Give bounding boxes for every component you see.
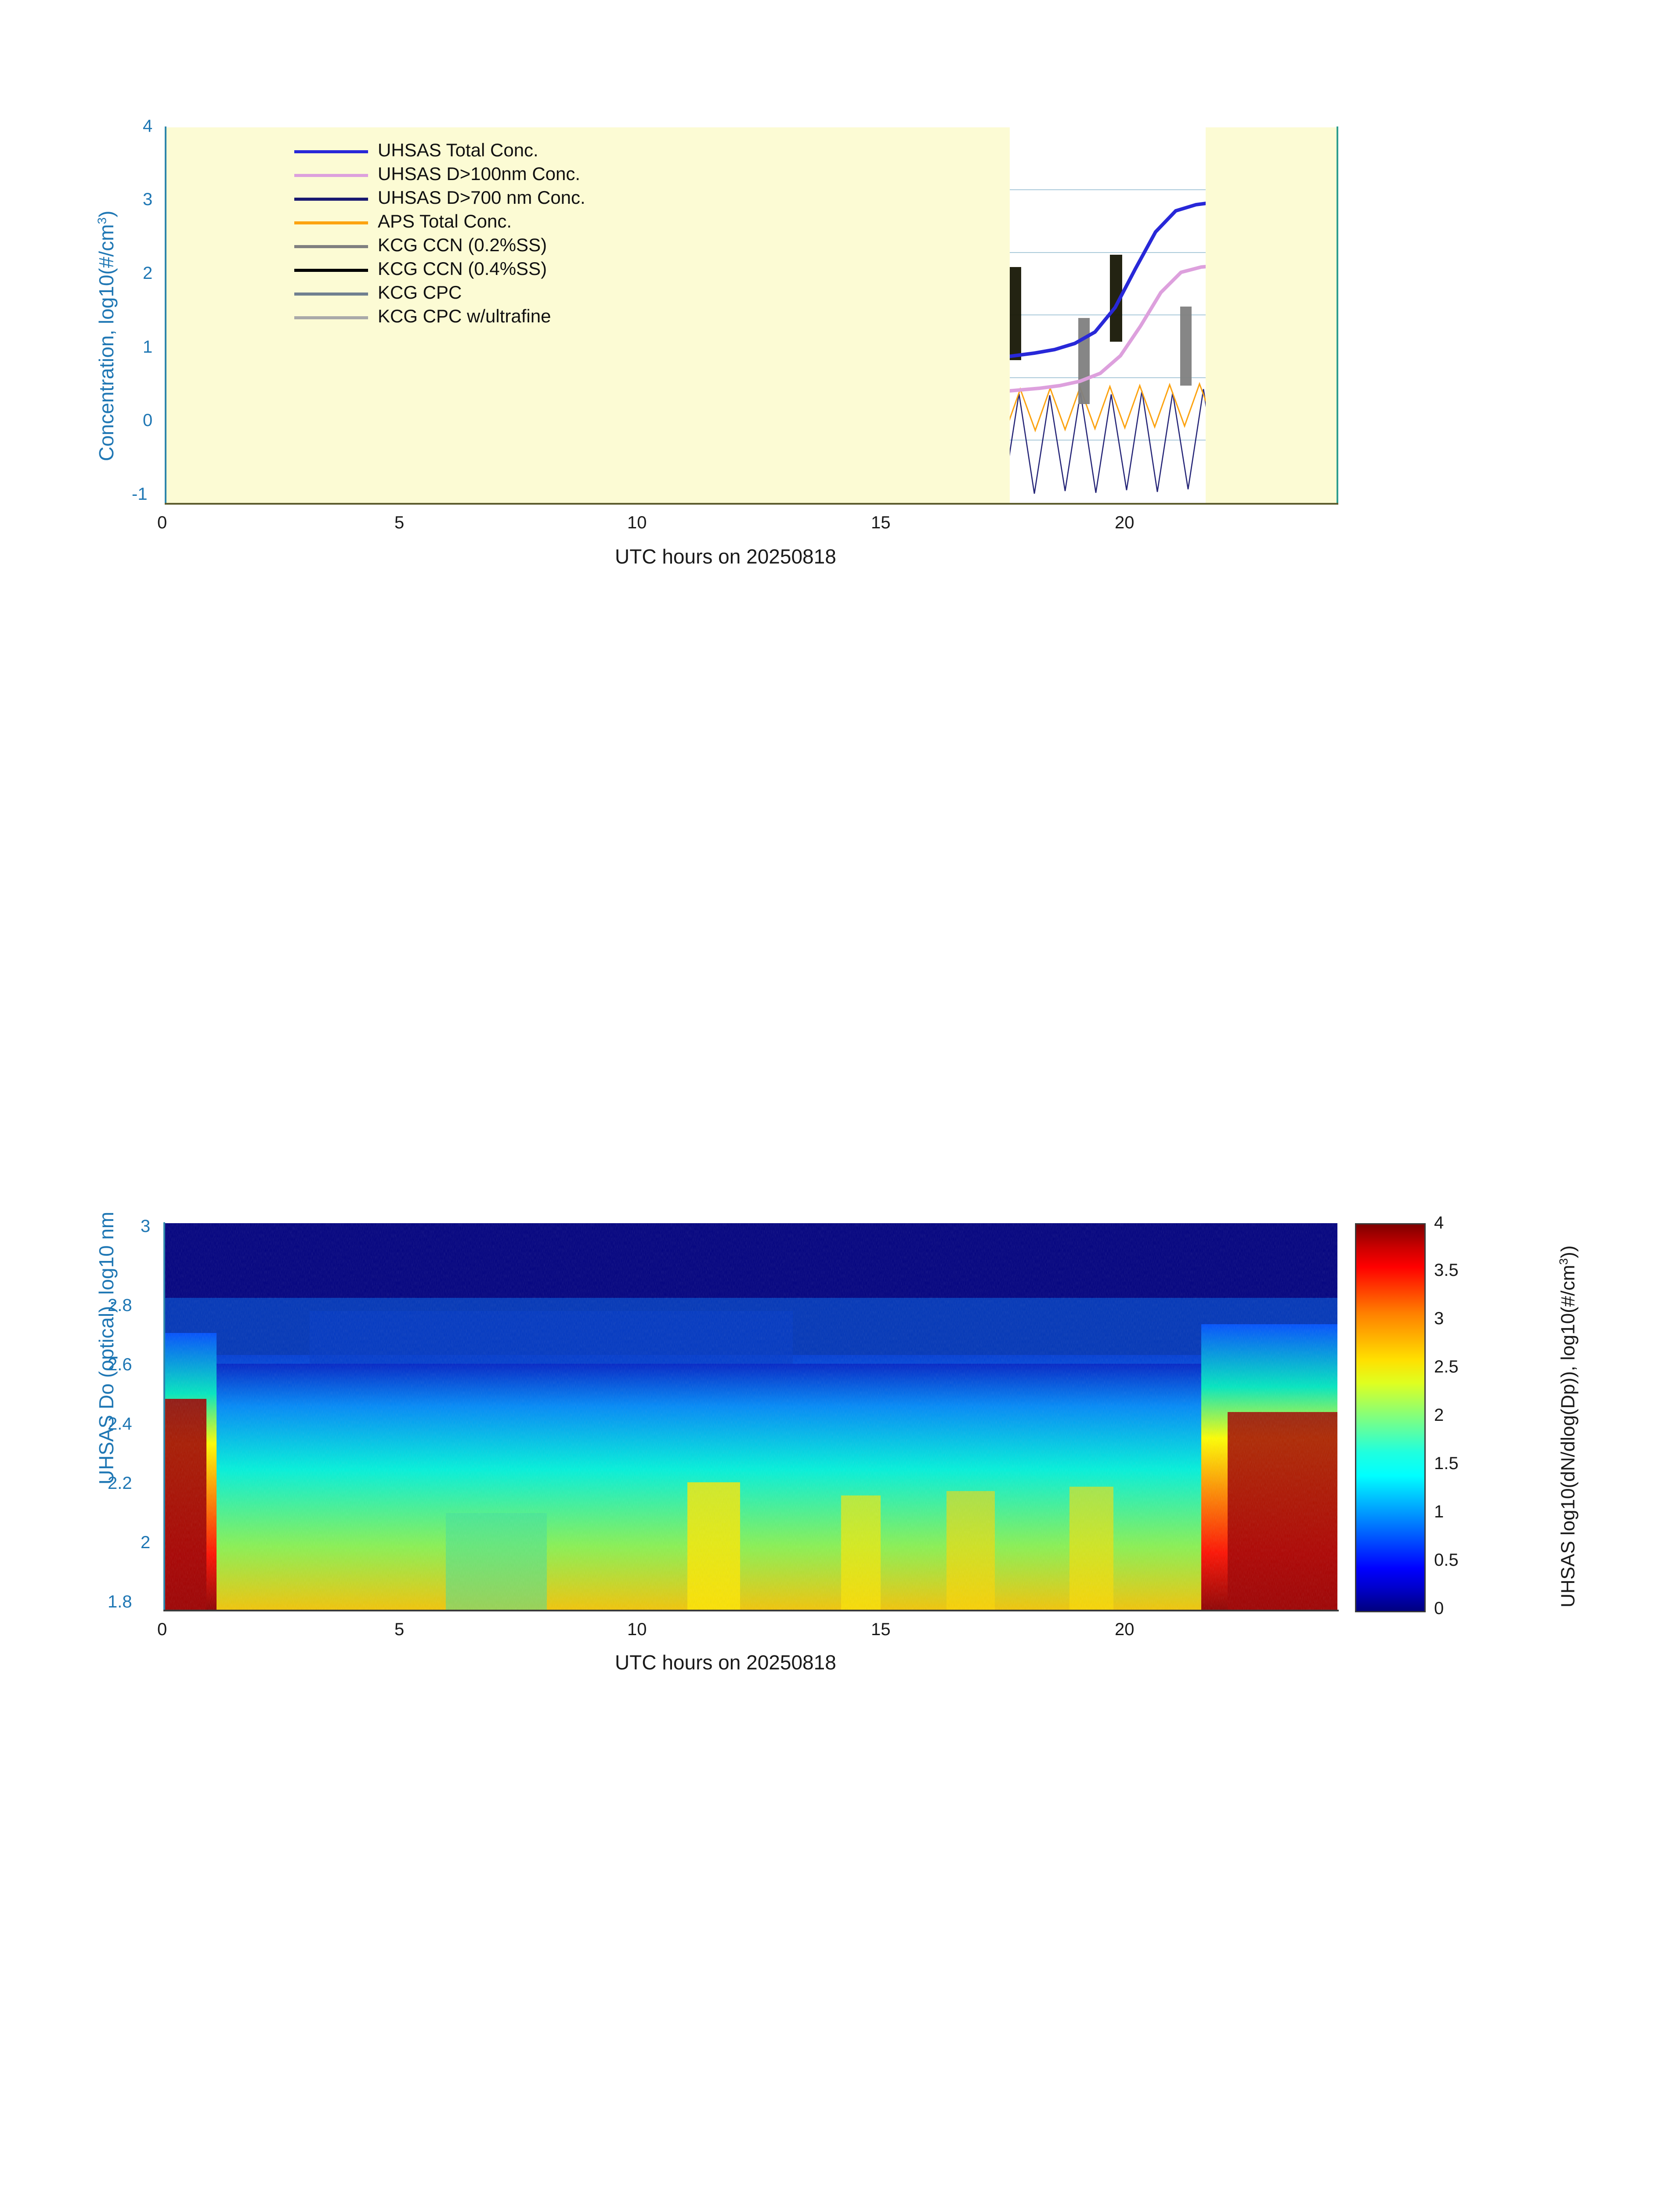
panel-aod-angstrom: Aerosol Optical Depth 0 0.2 0.4 0.6 0.8 … — [0, 2064, 1680, 2196]
panel1-ytick-4: 4 — [143, 116, 152, 136]
panel1-y-axis-label-sup: 3 — [95, 217, 109, 224]
legend-swatch-cpc — [294, 293, 368, 296]
legend-label-uhsas-total: UHSAS Total Conc. — [378, 140, 538, 161]
panel1-ytick-2: 2 — [143, 264, 152, 283]
panel1-night-shade-left — [165, 127, 1010, 503]
panel1-ytick-1: 1 — [143, 337, 152, 357]
panel1-y-axis-label-tail: ) — [95, 211, 118, 217]
panel1-ytick--1: -1 — [132, 484, 148, 504]
panel1-xtick-10: 10 — [627, 513, 647, 533]
legend-label-cpc: KCG CPC — [378, 282, 462, 303]
panel1-ytick-0: 0 — [143, 411, 152, 430]
panel1-x-axis-label: UTC hours on 20250818 — [615, 545, 836, 568]
panel1-xtick-5: 5 — [394, 513, 404, 533]
panel1-xtick-0: 0 — [157, 513, 167, 533]
legend-label-ccn-04: KCG CCN (0.4%SS) — [378, 258, 547, 279]
panel1-xtick-20: 20 — [1115, 513, 1134, 533]
legend-label-uhsas-700: UHSAS D>700 nm Conc. — [378, 187, 585, 208]
panel-aps-heatmap: APS Da (aerodynamic), log10 μm -0.2 0 0.… — [0, 1116, 1680, 1599]
legend-label-uhsas-100: UHSAS D>100nm Conc. — [378, 163, 580, 184]
panel1-left-spine — [165, 126, 166, 504]
panel-uhsas-heatmap: UHSAS Do (optical), log10 nm 1.8 2 2.2 2… — [0, 602, 1680, 1085]
panel1-bottom-spine — [165, 503, 1338, 505]
panel-mean-distribution: dN/dlogDp, log10(#/cm3) -2 -1 0 1 2 3 2 … — [0, 1590, 1680, 2064]
legend-swatch-ccn-02 — [294, 245, 368, 248]
panel-concentration-timeseries: Concentration, log10(#/cm3) -1 0 1 2 3 4 — [0, 0, 1680, 580]
legend-label-aps-total: APS Total Conc. — [378, 211, 512, 232]
legend-swatch-uhsas-700 — [294, 198, 368, 201]
legend-swatch-uhsas-total — [294, 150, 368, 153]
panel1-y-axis-label: Concentration, log10(#/cm3) — [94, 211, 118, 461]
legend-swatch-aps-total — [294, 221, 368, 224]
panel1-right-spine — [1337, 126, 1338, 504]
legend-label-ccn-02: KCG CCN (0.2%SS) — [378, 235, 547, 256]
panel1-ytick-3: 3 — [143, 190, 152, 209]
panel1-xtick-15: 15 — [871, 513, 891, 533]
panel1-plot-area — [165, 127, 1337, 503]
legend-label-cpc-ultrafine: KCG CPC w/ultrafine — [378, 306, 551, 327]
legend-swatch-ccn-04 — [294, 269, 368, 272]
panel1-y-axis-label-text: Concentration, log10(#/cm — [95, 224, 118, 461]
legend-swatch-uhsas-100 — [294, 174, 368, 177]
legend-swatch-cpc-ultrafine — [294, 316, 368, 319]
panel1-night-shade-right — [1206, 127, 1337, 503]
